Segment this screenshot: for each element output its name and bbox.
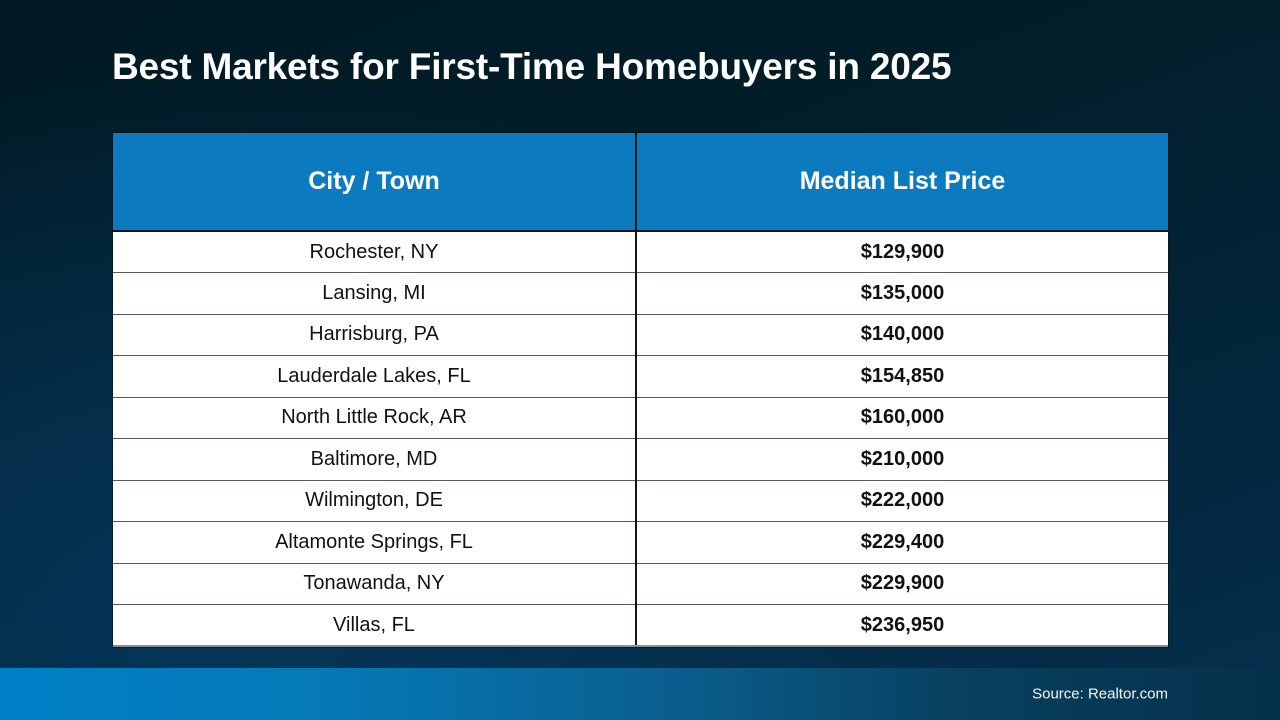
table-row: Harrisburg, PA$140,000: [113, 314, 1168, 356]
table-row: Villas, FL$236,950: [113, 605, 1168, 647]
table-row: Lauderdale Lakes, FL$154,850: [113, 356, 1168, 398]
table-row: Rochester, NY$129,900: [113, 231, 1168, 273]
source-attribution: Source: Realtor.com: [1032, 686, 1168, 703]
cell-price: $229,400: [636, 522, 1168, 564]
page-title: Best Markets for First-Time Homebuyers i…: [112, 46, 951, 88]
cell-city: Harrisburg, PA: [113, 314, 636, 356]
table-row: Tonawanda, NY$229,900: [113, 563, 1168, 605]
table-row: Lansing, MI$135,000: [113, 273, 1168, 315]
table-row: North Little Rock, AR$160,000: [113, 397, 1168, 439]
cell-price: $236,950: [636, 605, 1168, 647]
cell-city: Lauderdale Lakes, FL: [113, 356, 636, 398]
cell-price: $222,000: [636, 480, 1168, 522]
table-row: Wilmington, DE$222,000: [113, 480, 1168, 522]
cell-price: $135,000: [636, 273, 1168, 315]
data-table-container: City / Town Median List Price Rochester,…: [113, 133, 1168, 647]
table-header: City / Town Median List Price: [113, 133, 1168, 231]
cell-city: North Little Rock, AR: [113, 397, 636, 439]
cell-city: Tonawanda, NY: [113, 563, 636, 605]
cell-city: Altamonte Springs, FL: [113, 522, 636, 564]
footer-bar: Source: Realtor.com: [0, 668, 1280, 720]
cell-price: $160,000: [636, 397, 1168, 439]
cell-city: Lansing, MI: [113, 273, 636, 315]
cell-price: $229,900: [636, 563, 1168, 605]
homebuyer-markets-table: City / Town Median List Price Rochester,…: [113, 133, 1168, 647]
cell-city: Rochester, NY: [113, 231, 636, 273]
cell-price: $129,900: [636, 231, 1168, 273]
slide-canvas: Best Markets for First-Time Homebuyers i…: [0, 0, 1280, 720]
table-header-row: City / Town Median List Price: [113, 133, 1168, 231]
cell-city: Baltimore, MD: [113, 439, 636, 481]
cell-city: Wilmington, DE: [113, 480, 636, 522]
cell-price: $154,850: [636, 356, 1168, 398]
table-row: Baltimore, MD$210,000: [113, 439, 1168, 481]
cell-price: $210,000: [636, 439, 1168, 481]
table-row: Altamonte Springs, FL$229,400: [113, 522, 1168, 564]
table-body: Rochester, NY$129,900Lansing, MI$135,000…: [113, 231, 1168, 646]
cell-price: $140,000: [636, 314, 1168, 356]
cell-city: Villas, FL: [113, 605, 636, 647]
column-header-city: City / Town: [113, 133, 636, 231]
column-header-price: Median List Price: [636, 133, 1168, 231]
